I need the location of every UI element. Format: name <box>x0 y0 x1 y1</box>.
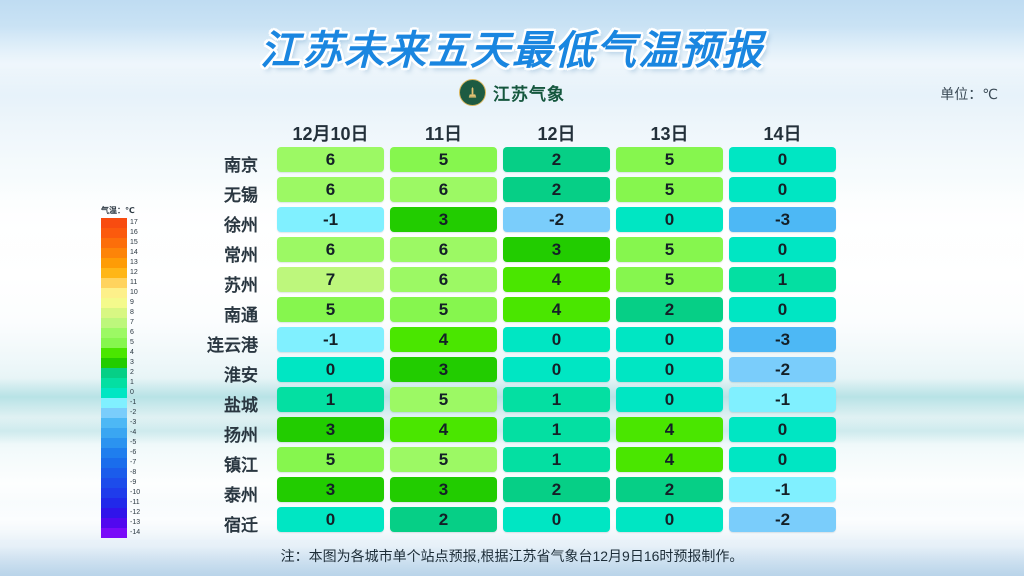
row-label-city: 徐州 <box>178 211 258 236</box>
legend-stop: -10 <box>101 488 149 498</box>
temperature-cell: 3 <box>390 207 497 232</box>
legend-stop: -6 <box>101 448 149 458</box>
row-label-city: 宿迁 <box>178 511 258 536</box>
legend-swatch <box>101 388 127 398</box>
temperature-cell: 5 <box>277 447 384 472</box>
row-label-city: 泰州 <box>178 481 258 506</box>
column-header-2: 11日 <box>390 120 497 146</box>
temperature-cell: 2 <box>503 147 610 172</box>
temperature-cell: 3 <box>277 417 384 442</box>
temperature-cell: 0 <box>616 357 723 382</box>
legend-swatch <box>101 458 127 468</box>
temperature-cell: 1 <box>503 387 610 412</box>
legend-stop: -2 <box>101 408 149 418</box>
legend-swatch <box>101 318 127 328</box>
legend-swatch <box>101 238 127 248</box>
temperature-cell: -1 <box>729 387 836 412</box>
legend-label: 6 <box>130 328 134 338</box>
legend-label: 10 <box>130 288 138 298</box>
legend-swatch <box>101 438 127 448</box>
legend-label: 1 <box>130 378 134 388</box>
legend-label: 3 <box>130 358 134 368</box>
temperature-cell: 0 <box>616 327 723 352</box>
legend-label: 14 <box>130 248 138 258</box>
temperature-cell: 0 <box>616 387 723 412</box>
temperature-cell: 4 <box>616 417 723 442</box>
page-title: 江苏未来五天最低气温预报 <box>0 18 1024 76</box>
legend-stop: 11 <box>101 278 149 288</box>
temperature-cell: 5 <box>390 387 497 412</box>
legend-label: -7 <box>130 458 136 468</box>
temperature-cell: 3 <box>390 477 497 502</box>
temperature-cell: 5 <box>277 297 384 322</box>
legend-stop: -12 <box>101 508 149 518</box>
legend-label: -1 <box>130 398 136 408</box>
temperature-cell: -3 <box>729 327 836 352</box>
temperature-cell: 5 <box>616 237 723 262</box>
legend-stop: 8 <box>101 308 149 318</box>
legend-swatch <box>101 348 127 358</box>
temperature-cell: 5 <box>390 447 497 472</box>
column-header-row: 12月10日11日12日13日14日 <box>0 120 1024 146</box>
legend-swatch <box>101 358 127 368</box>
temperature-cell: 3 <box>503 237 610 262</box>
legend-stop: 3 <box>101 358 149 368</box>
legend-label: -11 <box>130 498 140 508</box>
temperature-cell: 1 <box>277 387 384 412</box>
legend-stop: 4 <box>101 348 149 358</box>
legend-swatch <box>101 418 127 428</box>
legend-stop: 16 <box>101 228 149 238</box>
row-label-city: 南京 <box>178 151 258 176</box>
legend-label: -4 <box>130 428 136 438</box>
temperature-cell: 0 <box>277 357 384 382</box>
legend-stop: 13 <box>101 258 149 268</box>
temperature-cell: 4 <box>503 267 610 292</box>
legend-stop: -5 <box>101 438 149 448</box>
legend-swatch <box>101 378 127 388</box>
temperature-cell: 4 <box>503 297 610 322</box>
temperature-cell: 0 <box>503 507 610 532</box>
legend-stop: -13 <box>101 518 149 528</box>
temperature-cell: 0 <box>616 207 723 232</box>
legend-label: 2 <box>130 368 134 378</box>
legend-stop: 0 <box>101 388 149 398</box>
temperature-cell: -2 <box>729 357 836 382</box>
legend-label: 12 <box>130 268 138 278</box>
legend-stop: -14 <box>101 528 149 538</box>
legend-stop: 9 <box>101 298 149 308</box>
row-label-city: 镇江 <box>178 451 258 476</box>
temperature-cell: 0 <box>729 447 836 472</box>
temperature-cell: 5 <box>616 147 723 172</box>
legend-stop: 15 <box>101 238 149 248</box>
temperature-cell: -3 <box>729 207 836 232</box>
temperature-cell: 0 <box>729 147 836 172</box>
temperature-cell: 0 <box>503 327 610 352</box>
row-label-city: 无锡 <box>178 181 258 206</box>
legend-stop: -1 <box>101 398 149 408</box>
temperature-cell: 0 <box>729 417 836 442</box>
temperature-cell: 7 <box>277 267 384 292</box>
legend-label: -5 <box>130 438 136 448</box>
temperature-cell: 5 <box>616 267 723 292</box>
column-header-1: 12月10日 <box>277 120 384 146</box>
temperature-cell: 3 <box>390 357 497 382</box>
temperature-cell: 6 <box>390 237 497 262</box>
temperature-cell: 3 <box>277 477 384 502</box>
legend-stop-list: 17161514131211109876543210-1-2-3-4-5-6-7… <box>101 218 149 538</box>
temperature-cell: 4 <box>390 417 497 442</box>
legend-stop: 12 <box>101 268 149 278</box>
legend-stop: -9 <box>101 478 149 488</box>
temperature-cell: 6 <box>277 147 384 172</box>
legend-swatch <box>101 368 127 378</box>
temperature-cell: -2 <box>729 507 836 532</box>
legend-stop: -7 <box>101 458 149 468</box>
legend-label: -9 <box>130 478 136 488</box>
legend-label: -10 <box>130 488 140 498</box>
legend-swatch <box>101 248 127 258</box>
temperature-cell: 2 <box>503 177 610 202</box>
temperature-color-legend: 气温：℃ 17161514131211109876543210-1-2-3-4-… <box>101 205 149 538</box>
brand-lockup: 江苏气象 <box>0 79 1024 106</box>
legend-label: 4 <box>130 348 134 358</box>
row-label-city: 连云港 <box>178 331 258 356</box>
legend-swatch <box>101 488 127 498</box>
temperature-cell: 4 <box>616 447 723 472</box>
legend-swatch <box>101 258 127 268</box>
legend-label: -6 <box>130 448 136 458</box>
legend-label: 8 <box>130 308 134 318</box>
temperature-cell: 2 <box>616 477 723 502</box>
legend-swatch <box>101 298 127 308</box>
legend-label: -14 <box>130 528 140 538</box>
brand-name: 江苏气象 <box>493 80 565 105</box>
column-header-3: 12日 <box>503 120 610 146</box>
legend-stop: 2 <box>101 368 149 378</box>
temperature-cell: 1 <box>503 417 610 442</box>
temperature-cell: 1 <box>729 267 836 292</box>
temperature-cell: 2 <box>616 297 723 322</box>
legend-label: 13 <box>130 258 138 268</box>
legend-label: 16 <box>130 228 138 238</box>
row-label-city: 盐城 <box>178 391 258 416</box>
unit-label: 单位：℃ <box>940 84 998 104</box>
legend-stop: 10 <box>101 288 149 298</box>
legend-stop: 7 <box>101 318 149 328</box>
footnote: 注：本图为各城市单个站点预报,根据江苏省气象台12月9日16时预报制作。 <box>0 546 1024 566</box>
temperature-cell: 2 <box>390 507 497 532</box>
column-header-4: 13日 <box>616 120 723 146</box>
legend-label: -8 <box>130 468 136 478</box>
temperature-cell: 1 <box>503 447 610 472</box>
legend-swatch <box>101 528 127 538</box>
legend-label: 9 <box>130 298 134 308</box>
temperature-cell: 0 <box>729 237 836 262</box>
legend-swatch <box>101 398 127 408</box>
temperature-cell: 0 <box>729 177 836 202</box>
legend-stop: 17 <box>101 218 149 228</box>
legend-stop: 1 <box>101 378 149 388</box>
row-label-city: 常州 <box>178 241 258 266</box>
legend-swatch <box>101 268 127 278</box>
temperature-cell: 0 <box>729 297 836 322</box>
legend-label: -13 <box>130 518 140 528</box>
legend-stop: -3 <box>101 418 149 428</box>
temperature-cell: -1 <box>277 207 384 232</box>
temperature-cell: 6 <box>390 177 497 202</box>
temperature-cell: -1 <box>277 327 384 352</box>
temperature-cell: 6 <box>277 237 384 262</box>
temperature-cell: 0 <box>616 507 723 532</box>
temperature-cell: 6 <box>390 267 497 292</box>
legend-swatch <box>101 518 127 528</box>
legend-label: 11 <box>130 278 137 288</box>
legend-stop: 14 <box>101 248 149 258</box>
row-label-city: 南通 <box>178 301 258 326</box>
temperature-cell: 4 <box>390 327 497 352</box>
temperature-cell: 0 <box>503 357 610 382</box>
legend-label: -12 <box>130 508 140 518</box>
legend-stop: 5 <box>101 338 149 348</box>
legend-label: -3 <box>130 418 136 428</box>
legend-label: 5 <box>130 338 134 348</box>
temperature-cell: 0 <box>277 507 384 532</box>
legend-label: 15 <box>130 238 138 248</box>
legend-swatch <box>101 468 127 478</box>
temperature-cell: 6 <box>277 177 384 202</box>
legend-label: 0 <box>130 388 134 398</box>
legend-swatch <box>101 218 127 228</box>
legend-stop: -11 <box>101 498 149 508</box>
temperature-cell: -2 <box>503 207 610 232</box>
row-label-city: 苏州 <box>178 271 258 296</box>
legend-swatch <box>101 338 127 348</box>
legend-swatch <box>101 228 127 238</box>
legend-label: 17 <box>130 218 138 228</box>
legend-title: 气温：℃ <box>101 205 149 216</box>
legend-swatch <box>101 408 127 418</box>
temperature-cell: 5 <box>390 297 497 322</box>
legend-swatch <box>101 498 127 508</box>
legend-swatch <box>101 478 127 488</box>
column-header-5: 14日 <box>729 120 836 146</box>
legend-swatch <box>101 428 127 438</box>
legend-swatch <box>101 288 127 298</box>
legend-swatch <box>101 508 127 518</box>
legend-label: 7 <box>130 318 134 328</box>
weather-bureau-tower-icon <box>459 79 486 106</box>
temperature-cell: 5 <box>390 147 497 172</box>
row-label-city: 淮安 <box>178 361 258 386</box>
temperature-cell: 5 <box>616 177 723 202</box>
legend-swatch <box>101 448 127 458</box>
legend-swatch <box>101 308 127 318</box>
legend-stop: -8 <box>101 468 149 478</box>
row-label-city: 扬州 <box>178 421 258 446</box>
legend-swatch <box>101 328 127 338</box>
legend-stop: -4 <box>101 428 149 438</box>
temperature-cell: 2 <box>503 477 610 502</box>
temperature-cell: -1 <box>729 477 836 502</box>
legend-stop: 6 <box>101 328 149 338</box>
legend-swatch <box>101 278 127 288</box>
legend-label: -2 <box>130 408 136 418</box>
